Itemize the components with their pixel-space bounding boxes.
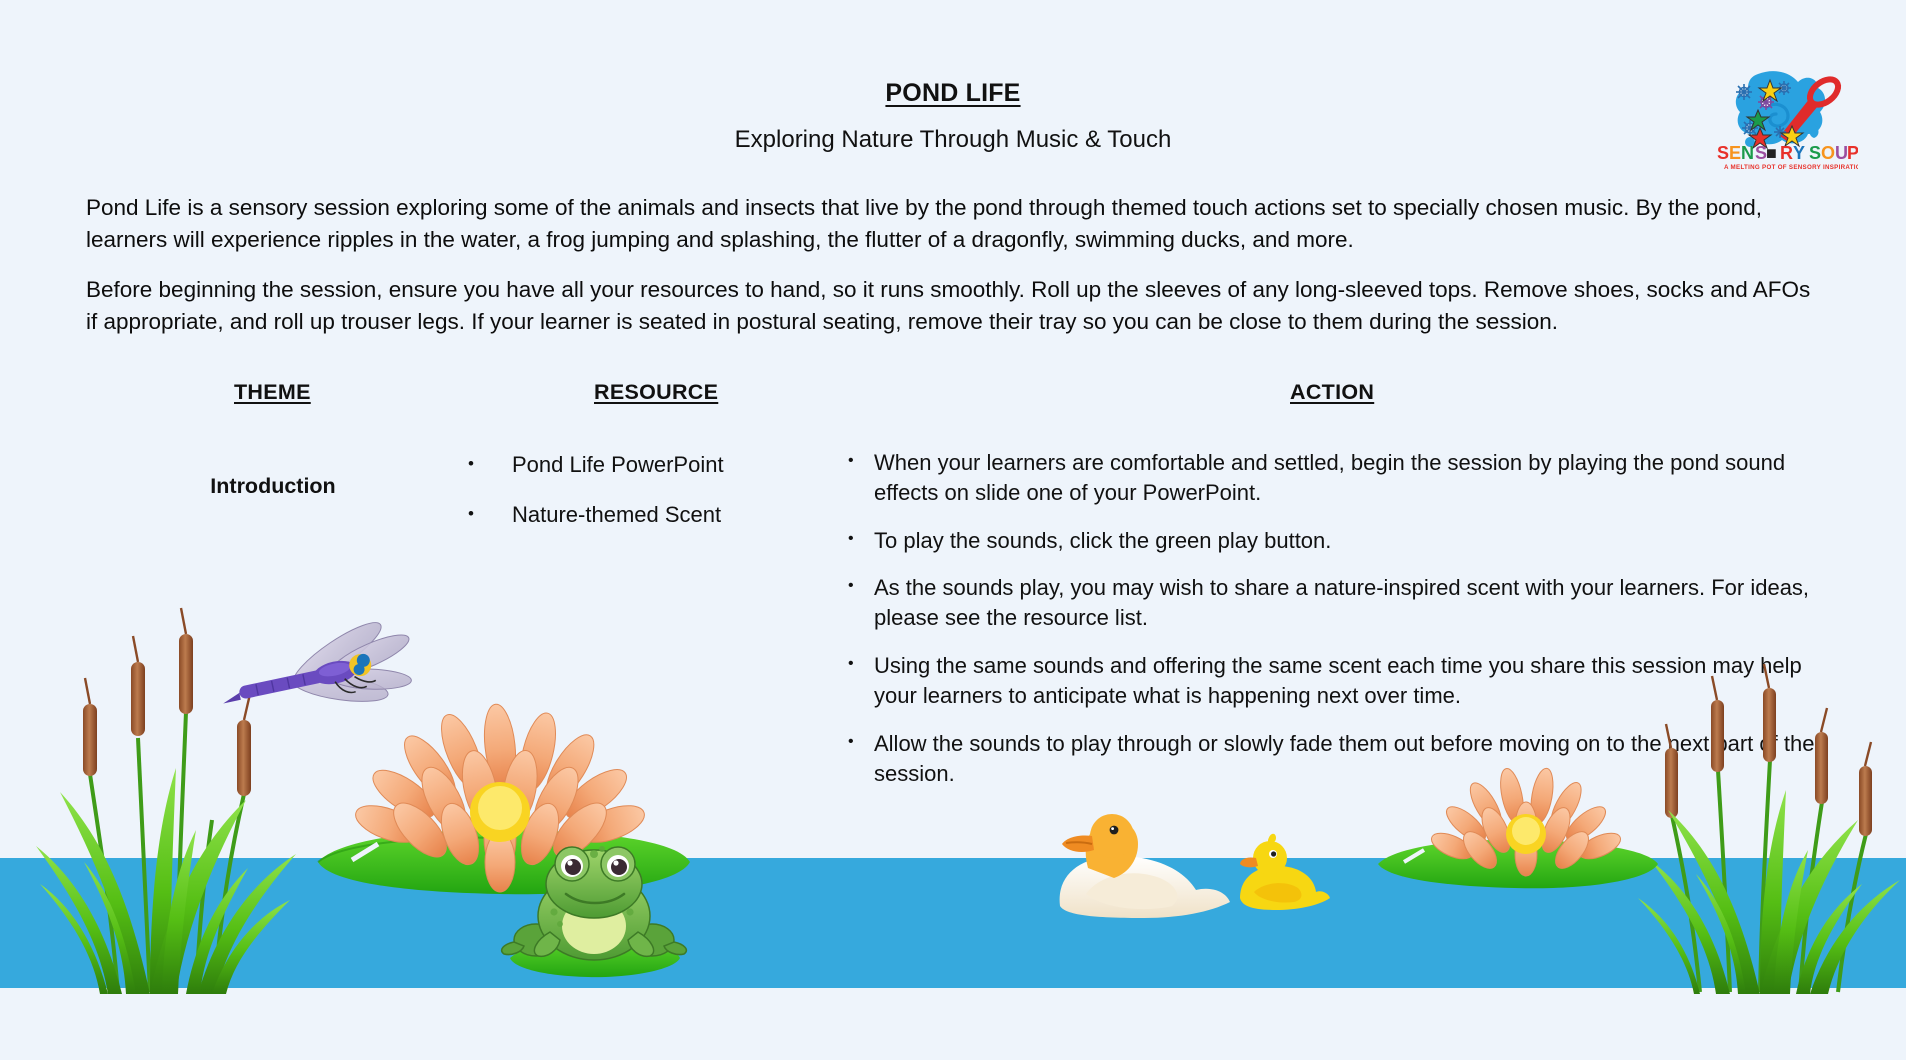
action-label: Allow the sounds to play through or slow… [874, 729, 1818, 790]
duckling-yellow [1240, 834, 1330, 910]
resource-cell: • Pond Life PowerPoint • Nature-themed S… [468, 450, 798, 549]
column-header-action: ACTION [1290, 380, 1374, 405]
bullet-icon: • [468, 455, 512, 472]
bullet-icon: • [848, 448, 874, 474]
sensory-soup-logo: S E N S ■ R Y S O U P A MELTING POT OF S… [1714, 62, 1858, 172]
page-title: POND LIFE [0, 78, 1906, 108]
list-item: • Allow the sounds to play through or sl… [848, 729, 1818, 790]
list-item: • Pond Life PowerPoint [468, 450, 798, 480]
svg-text:S: S [1717, 143, 1729, 163]
lily-center [470, 782, 530, 842]
bullet-icon: • [848, 526, 874, 552]
action-label: To play the sounds, click the green play… [874, 526, 1818, 556]
intro-text: Pond Life is a sensory session exploring… [86, 192, 1824, 356]
logo-tagline: A MELTING POT OF SENSORY INSPIRATION [1724, 164, 1858, 171]
dragonfly [211, 607, 423, 739]
action-label: As the sounds play, you may wish to shar… [874, 573, 1818, 634]
duck-white [1060, 814, 1230, 918]
pond-water-band [0, 858, 1906, 988]
lily-pad [1378, 840, 1658, 889]
svg-text:N: N [1741, 143, 1754, 163]
bullet-icon: • [848, 573, 874, 599]
document-header: POND LIFE Exploring Nature Through Music… [0, 78, 1906, 155]
svg-text:Y: Y [1793, 143, 1805, 163]
action-label: When your learners are comfortable and s… [874, 448, 1818, 509]
list-item: • Using the same sounds and offering the… [848, 651, 1818, 712]
list-item: • As the sounds play, you may wish to sh… [848, 573, 1818, 634]
cattail-reeds-left [36, 608, 296, 994]
bullet-icon: • [848, 651, 874, 677]
column-header-resource: RESOURCE [594, 380, 718, 405]
column-header-theme: THEME [234, 380, 311, 405]
logo-wordmark: S E N S ■ R Y S O U P A MELTING POT OF S… [1717, 143, 1858, 171]
action-cell: • When your learners are comfortable and… [848, 448, 1818, 806]
lily-pad [318, 830, 690, 894]
action-label: Using the same sounds and offering the s… [874, 651, 1818, 712]
document-page: POND LIFE Exploring Nature Through Music… [0, 0, 1906, 1060]
svg-text:O: O [1821, 143, 1835, 163]
session-table: THEME RESOURCE ACTION Introduction • Pon… [0, 380, 1906, 420]
lily-center [1506, 814, 1546, 854]
water-lily-left [318, 703, 690, 895]
page-subtitle: Exploring Nature Through Music & Touch [0, 108, 1906, 155]
table-header-row: THEME RESOURCE ACTION [0, 380, 1906, 420]
svg-text:E: E [1729, 143, 1741, 163]
bullet-icon: • [848, 729, 874, 755]
svg-text:■: ■ [1766, 143, 1777, 163]
svg-text:R: R [1780, 143, 1793, 163]
resource-label: Nature-themed Scent [512, 500, 721, 530]
list-item: • Nature-themed Scent [468, 500, 798, 530]
frog [502, 846, 687, 977]
list-item: • To play the sounds, click the green pl… [848, 526, 1818, 556]
list-item: • When your learners are comfortable and… [848, 448, 1818, 509]
resource-label: Pond Life PowerPoint [512, 450, 724, 480]
svg-text:P: P [1847, 143, 1858, 163]
intro-paragraph-2: Before beginning the session, ensure you… [86, 274, 1824, 338]
intro-paragraph-1: Pond Life is a sensory session exploring… [86, 192, 1824, 256]
theme-cell: Introduction [203, 474, 343, 499]
svg-text:S: S [1809, 143, 1821, 163]
bullet-icon: • [468, 505, 512, 522]
